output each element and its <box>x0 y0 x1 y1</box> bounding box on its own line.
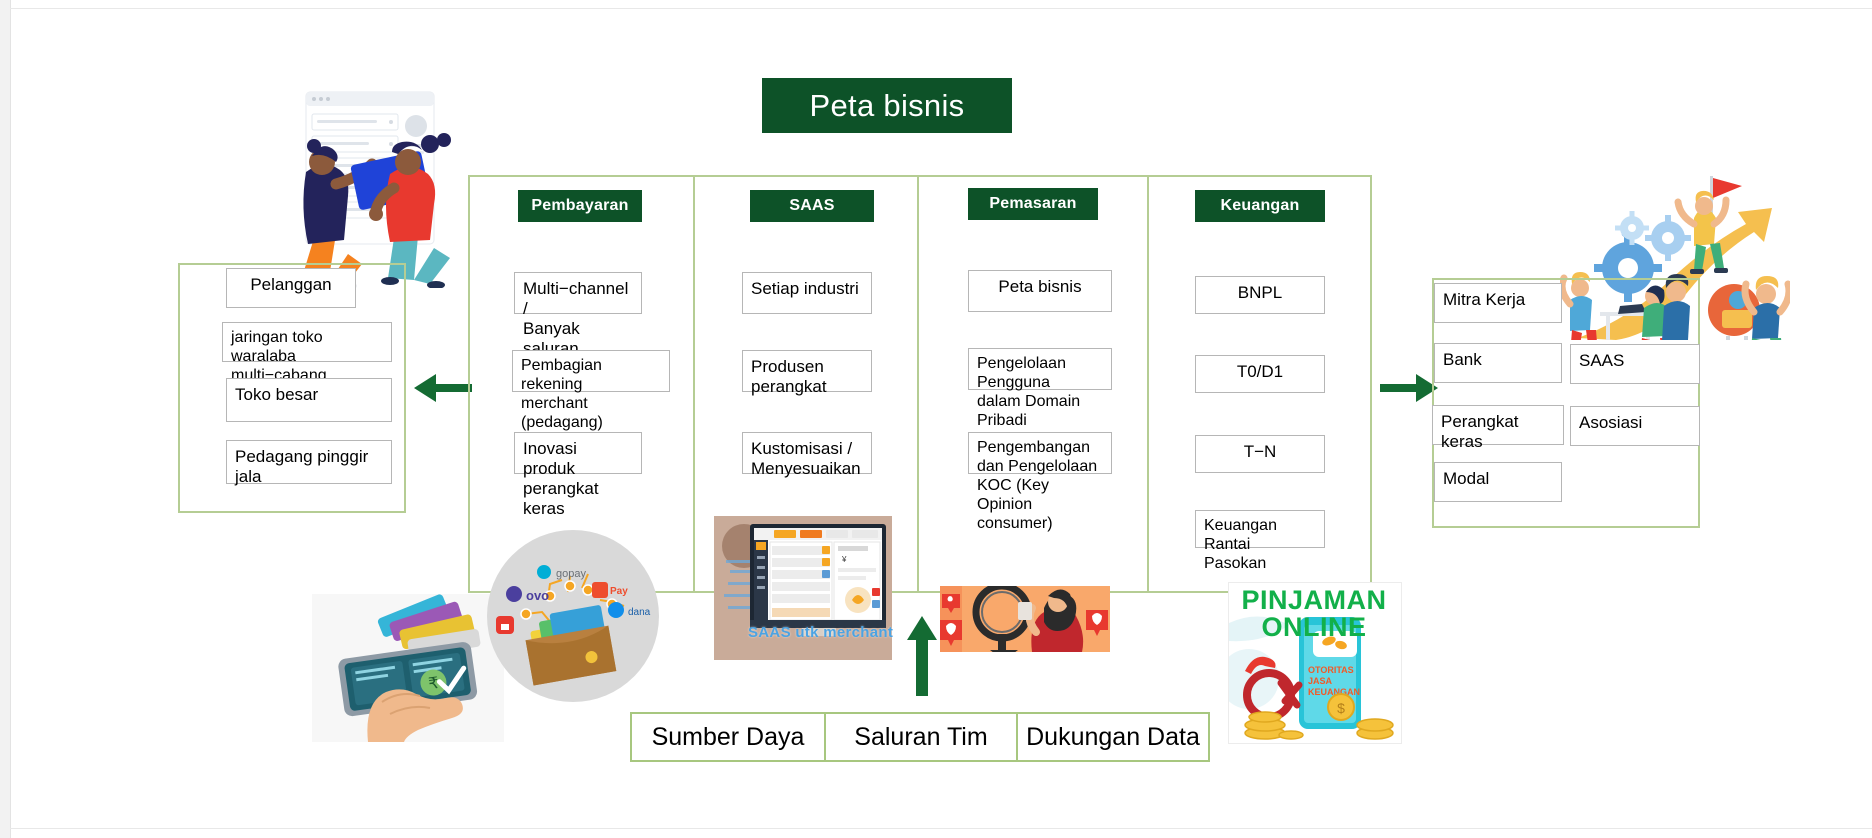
arrow-up-icon <box>905 612 939 698</box>
svg-text:JASA: JASA <box>1308 676 1333 686</box>
pembayaran-item-0[interactable]: Multi−channel / Banyak saluran <box>514 272 642 314</box>
left-item-0[interactable]: Pelanggan <box>226 268 356 308</box>
pos-caption: SAAS utk merchant <box>748 624 898 641</box>
page-title: Peta bisnis <box>762 78 1012 133</box>
ewallet-logos-image: gopay ovo Pay dana <box>482 528 664 704</box>
pillar-header-saas: SAAS <box>750 190 874 222</box>
partner-right-1[interactable]: Asosiasi <box>1570 406 1700 446</box>
keuangan-item-0[interactable]: BNPL <box>1195 276 1325 314</box>
pemasaran-item-1[interactable]: Pengelolaan Pengguna dalam Domain Pribad… <box>968 348 1112 390</box>
diagram-canvas: Peta bisnis Pelanggan jaringan toko wara… <box>0 0 1872 838</box>
keuangan-item-1[interactable]: T0/D1 <box>1195 355 1325 393</box>
partner-left-2[interactable]: Perangkat keras <box>1432 405 1564 445</box>
keuangan-item-2[interactable]: T−N <box>1195 435 1325 473</box>
pembayaran-item-1[interactable]: Pembagian rekening merchant (pedagang) <box>512 350 670 392</box>
svg-text:dana: dana <box>628 607 651 618</box>
bottom-cell-2[interactable]: Dukungan Data <box>1016 712 1210 762</box>
bottom-bar: Sumber Daya Saluran Tim Dukungan Data <box>630 712 1210 762</box>
partner-left-0[interactable]: Mitra Kerja <box>1434 283 1562 323</box>
pillar-divider-1 <box>693 175 695 593</box>
keuangan-item-3[interactable]: Keuangan Rantai Pasokan <box>1195 510 1325 548</box>
loan-title-line2: ONLINE <box>1228 614 1400 641</box>
page-edge-left <box>0 0 11 838</box>
partner-right-0[interactable]: SAAS <box>1570 344 1700 384</box>
phone-cards-image: ₹ <box>312 594 504 742</box>
saas-item-1[interactable]: Produsen perangkat <box>742 350 872 392</box>
loan-title-line1: PINJAMAN <box>1228 587 1400 614</box>
page-rule-bottom <box>10 828 1872 829</box>
bottom-cell-0[interactable]: Sumber Daya <box>630 712 826 762</box>
left-item-2[interactable]: Toko besar <box>226 378 392 422</box>
pillar-header-pembayaran: Pembayaran <box>518 190 642 222</box>
svg-text:¥: ¥ <box>841 555 847 564</box>
people-card-illustration <box>278 88 468 288</box>
pillar-header-pemasaran: Pemasaran <box>968 188 1098 220</box>
left-item-1[interactable]: jaringan toko waralaba multi−cabang <box>222 322 392 362</box>
left-item-3[interactable]: Pedagang pinggir jala <box>226 440 392 484</box>
pemasaran-item-2[interactable]: Pengembangan dan Pengelolaan KOC (Key Op… <box>968 432 1112 474</box>
svg-text:$: $ <box>1337 700 1345 716</box>
saas-item-2[interactable]: Kustomisasi / Menyesuaikan <box>742 432 872 474</box>
svg-text:OTORITAS: OTORITAS <box>1308 665 1354 675</box>
pembayaran-item-2[interactable]: Inovasi produk perangkat keras <box>514 432 642 474</box>
pillar-header-keuangan: Keuangan <box>1195 190 1325 222</box>
pillar-divider-2 <box>917 175 919 593</box>
page-rule-top <box>10 8 1872 9</box>
svg-text:Pay: Pay <box>610 586 628 597</box>
partner-left-1[interactable]: Bank <box>1434 343 1562 383</box>
partner-left-3[interactable]: Modal <box>1434 462 1562 502</box>
pillar-divider-3 <box>1147 175 1149 593</box>
saas-item-0[interactable]: Setiap industri <box>742 272 872 314</box>
arrow-left-icon <box>410 368 474 408</box>
svg-text:ovo: ovo <box>526 588 549 603</box>
koc-livestream-image <box>940 586 1110 652</box>
bottom-cell-1[interactable]: Saluran Tim <box>824 712 1018 762</box>
svg-text:gopay: gopay <box>556 568 586 580</box>
pemasaran-item-0[interactable]: Peta bisnis <box>968 270 1112 312</box>
